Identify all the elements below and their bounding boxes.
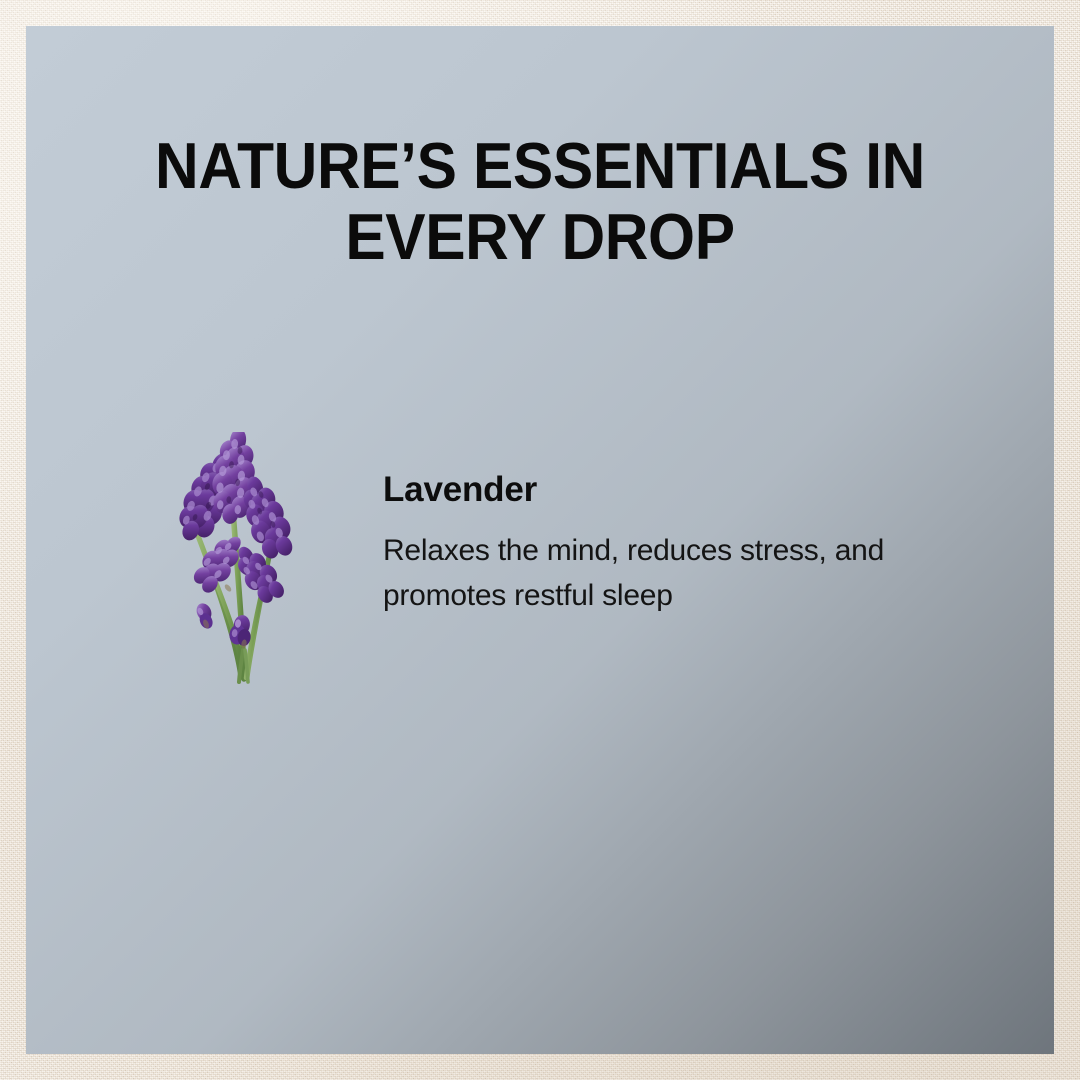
poster-canvas: NATURE’S ESSENTIALS IN EVERY DROP <box>0 0 1080 1080</box>
ingredient-description: Relaxes the mind, reduces stress, and pr… <box>383 528 1008 618</box>
lavender-sprigs-icon <box>140 432 320 694</box>
page-title: NATURE’S ESSENTIALS IN EVERY DROP <box>38 130 1042 272</box>
ingredient-text-block: Lavender Relaxes the mind, reduces stres… <box>383 470 1023 618</box>
ingredient-name: Lavender <box>383 470 1023 510</box>
ingredient-item: Lavender Relaxes the mind, reduces stres… <box>140 432 1040 702</box>
